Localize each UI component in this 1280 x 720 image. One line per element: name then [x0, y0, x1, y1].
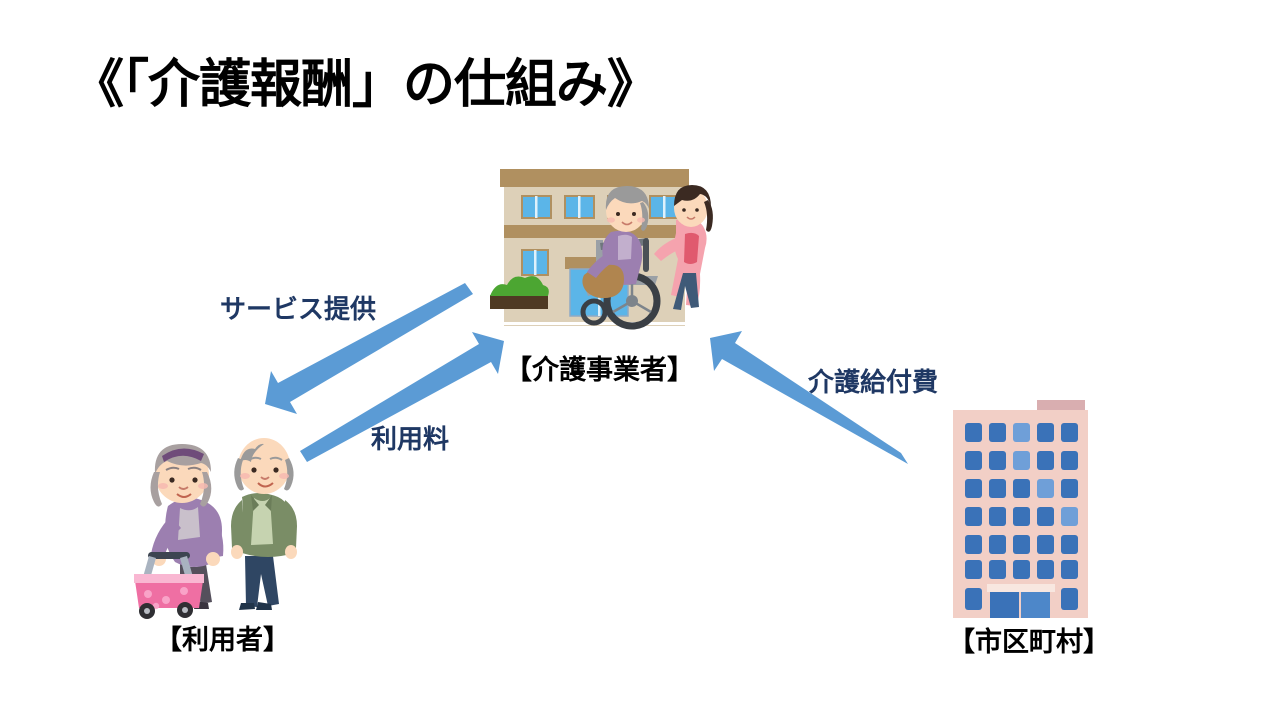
page-title: 《「介護報酬」の仕組み》 [72, 42, 658, 117]
caption-city: 【市区町村】 [948, 620, 1110, 659]
caption-user: 【利用者】 [155, 618, 290, 657]
facility-window-lower [522, 250, 548, 275]
caption-provider: 【介護事業者】 [505, 348, 694, 387]
flow-label-fee: 利用料 [371, 419, 449, 456]
hedge-icon [490, 276, 549, 309]
slide-canvas: 《「介護報酬」の仕組み》 [0, 0, 1280, 720]
elderly-couple-icon [118, 428, 323, 620]
city-hall-building-icon [938, 388, 1103, 620]
care-facility-illustration [480, 160, 730, 345]
elderly-man-icon [231, 438, 297, 610]
elderly-couple-illustration [118, 428, 323, 620]
flow-label-service: サービス提供 [220, 289, 376, 326]
care-facility-icon [480, 160, 730, 345]
flow-label-benefit: 介護給付費 [808, 362, 938, 399]
city-hall-illustration [938, 388, 1103, 620]
